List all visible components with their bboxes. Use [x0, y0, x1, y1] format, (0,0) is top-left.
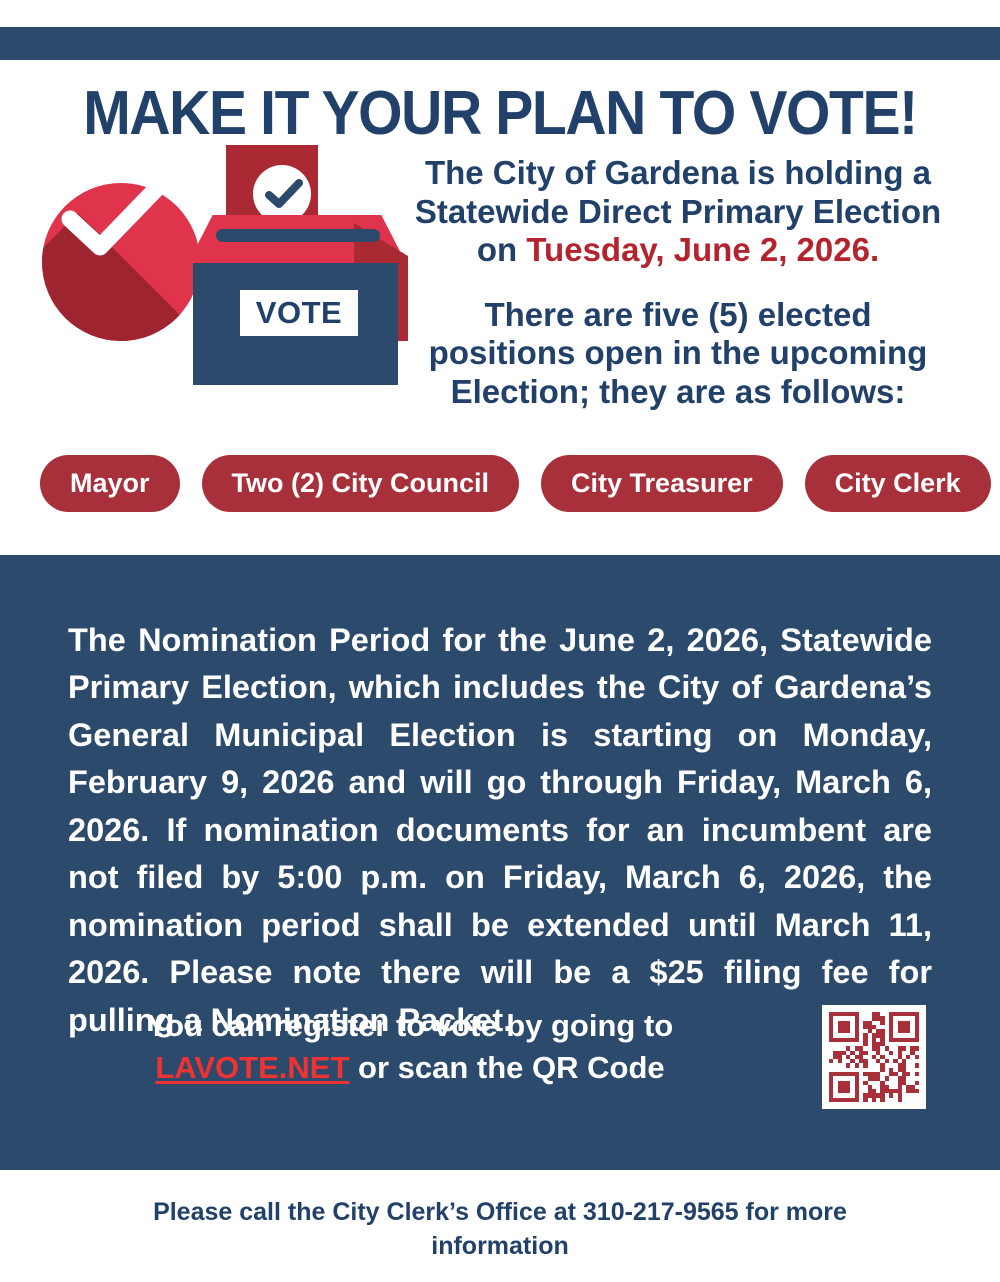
qr-code[interactable] [822, 1005, 926, 1109]
ballot-box-slot [216, 229, 380, 242]
register-callout: You can register to vote by going to LAV… [60, 1005, 760, 1089]
ballot-box-vote-label: VOTE [240, 290, 358, 336]
top-accent-bar [0, 27, 1000, 60]
intro-text-block: The City of Gardena is holding a Statewi… [378, 154, 978, 412]
intro-line-2: Statewide Direct Primary Election [378, 193, 978, 232]
intro-p2-line-1: There are five (5) elected [378, 296, 978, 335]
intro-line-3-prefix: on [477, 231, 526, 268]
nomination-section: The Nomination Period for the June 2, 20… [0, 555, 1000, 1170]
intro-line-3: on Tuesday, June 2, 2026. [378, 231, 978, 270]
footer-contact: Please call the City Clerk’s Office at 3… [100, 1196, 900, 1264]
intro-p2-line-2: positions open in the upcoming [378, 334, 978, 373]
elected-positions-list: Mayor Two (2) City Council City Treasure… [40, 455, 960, 512]
navy-checkmark-icon [264, 178, 304, 210]
position-pill-city-clerk: City Clerk [805, 455, 991, 512]
hero-section: VOTE The City of Gardena is holding a St… [0, 140, 1000, 410]
register-line-2-suffix: or scan the QR Code [349, 1050, 664, 1085]
ballot-box-illustration: VOTE [38, 145, 378, 385]
intro-line-1: The City of Gardena is holding a [378, 154, 978, 193]
position-pill-mayor: Mayor [40, 455, 180, 512]
qr-code-icon [829, 1012, 919, 1102]
register-line-1: You can register to vote by going to [60, 1005, 760, 1047]
white-checkmark-icon [60, 173, 170, 259]
lavote-link[interactable]: LAVOTE.NET [155, 1050, 349, 1085]
position-pill-city-council: Two (2) City Council [202, 455, 520, 512]
page-title: MAKE IT YOUR PLAN TO VOTE! [40, 78, 960, 149]
intro-p2-line-3: Election; they are as follows: [378, 373, 978, 412]
election-date: Tuesday, June 2, 2026. [526, 231, 879, 268]
position-pill-city-treasurer: City Treasurer [541, 455, 783, 512]
register-line-2: LAVOTE.NET or scan the QR Code [60, 1047, 760, 1089]
nomination-paragraph: The Nomination Period for the June 2, 20… [68, 617, 932, 1044]
flyer-page: MAKE IT YOUR PLAN TO VOTE! VOTE The City… [0, 0, 1000, 1282]
